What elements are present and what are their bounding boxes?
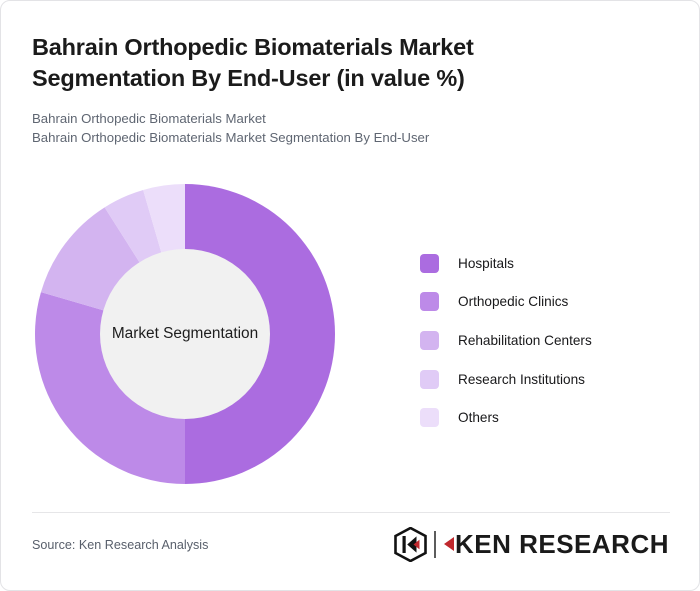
- subtitle-block: Bahrain Orthopedic Biomaterials Market B…: [32, 109, 592, 147]
- plot-area: Market Segmentation HospitalsOrthopedic …: [1, 166, 700, 501]
- chart-header: Bahrain Orthopedic Biomaterials Market S…: [32, 32, 592, 147]
- legend-item[interactable]: Orthopedic Clinics: [420, 283, 670, 322]
- donut-svg: [35, 183, 335, 485]
- legend-item[interactable]: Research Institutions: [420, 360, 670, 399]
- source-note: Source: Ken Research Analysis: [32, 538, 208, 552]
- donut-chart: Market Segmentation: [35, 183, 335, 485]
- logo-text: KEN RESEARCH: [455, 529, 669, 560]
- ken-research-logo-mark-icon: [394, 527, 427, 562]
- legend-item[interactable]: Others: [420, 398, 670, 437]
- subtitle-line-1: Bahrain Orthopedic Biomaterials Market: [32, 109, 592, 128]
- legend-swatch: [420, 408, 439, 427]
- ken-research-logo: KEN RESEARCH: [394, 525, 669, 563]
- legend-swatch: [420, 370, 439, 389]
- legend-label: Others: [458, 410, 499, 425]
- legend-label: Orthopedic Clinics: [458, 294, 568, 309]
- chart-card: Bahrain Orthopedic Biomaterials Market S…: [0, 0, 700, 591]
- logo-wordmark: KEN RESEARCH: [444, 529, 669, 560]
- legend-label: Research Institutions: [458, 372, 585, 387]
- footer-divider: [32, 512, 670, 513]
- chart-legend: HospitalsOrthopedic ClinicsRehabilitatio…: [420, 244, 670, 437]
- legend-item[interactable]: Rehabilitation Centers: [420, 321, 670, 360]
- legend-item[interactable]: Hospitals: [420, 244, 670, 283]
- legend-swatch: [420, 292, 439, 311]
- legend-label: Rehabilitation Centers: [458, 333, 592, 348]
- legend-swatch: [420, 254, 439, 273]
- legend-label: Hospitals: [458, 256, 514, 271]
- logo-divider: [434, 531, 436, 558]
- donut-center-hole: [100, 249, 270, 419]
- page-title: Bahrain Orthopedic Biomaterials Market S…: [32, 32, 592, 94]
- logo-triangle-icon: [444, 537, 454, 551]
- legend-swatch: [420, 331, 439, 350]
- subtitle-line-2: Bahrain Orthopedic Biomaterials Market S…: [32, 128, 592, 147]
